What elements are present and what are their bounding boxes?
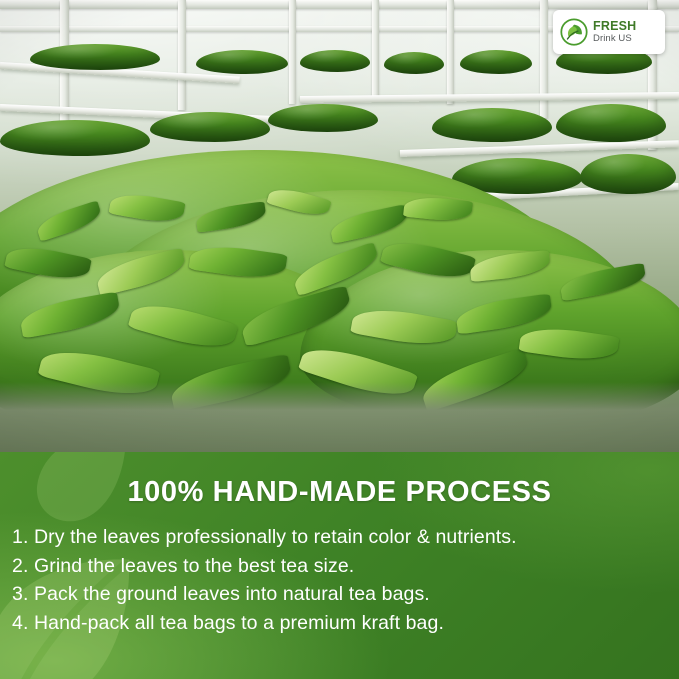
leaf-tray <box>30 44 160 70</box>
brand-logo-badge: FRESH Drink US <box>553 10 665 54</box>
leaf-tray <box>384 52 444 74</box>
leaf-circle-icon <box>560 18 588 46</box>
leaf-tray <box>580 154 676 194</box>
leaf-tray <box>432 108 552 142</box>
hand-made-process-panel: 100% HAND-MADE PROCESS 1. Dry the leaves… <box>0 452 679 679</box>
panel-title: 100% HAND-MADE PROCESS <box>0 476 679 509</box>
ceiling-beam <box>0 0 679 9</box>
leaf-tray <box>460 50 532 74</box>
frame-post <box>289 0 296 104</box>
leaf-tray <box>556 104 666 142</box>
brand-logo-text: FRESH Drink US <box>593 20 636 43</box>
list-item: 2. Grind the leaves to the best tea size… <box>12 552 679 581</box>
frame-post <box>178 0 186 110</box>
process-steps-list: 1. Dry the leaves professionally to reta… <box>0 523 679 638</box>
leaf-tray <box>150 112 270 142</box>
brand-name-secondary: Drink US <box>593 34 636 44</box>
leaf-tray <box>196 50 288 74</box>
leaf-tray <box>0 120 150 156</box>
greenhouse-floor <box>0 382 679 452</box>
greenhouse-tea-leaves-photo: FRESH Drink US <box>0 0 679 452</box>
list-item: 3. Pack the ground leaves into natural t… <box>12 580 679 609</box>
leaf-tray <box>300 50 370 72</box>
frame-post <box>372 0 379 100</box>
brand-name-primary: FRESH <box>593 20 636 33</box>
product-info-poster: FRESH Drink US 100% HAND-MADE PROCESS 1.… <box>0 0 679 679</box>
frame-post <box>447 0 454 104</box>
list-item: 4. Hand-pack all tea bags to a premium k… <box>12 609 679 638</box>
leaf-tray <box>268 104 378 132</box>
list-item: 1. Dry the leaves professionally to reta… <box>12 523 679 552</box>
